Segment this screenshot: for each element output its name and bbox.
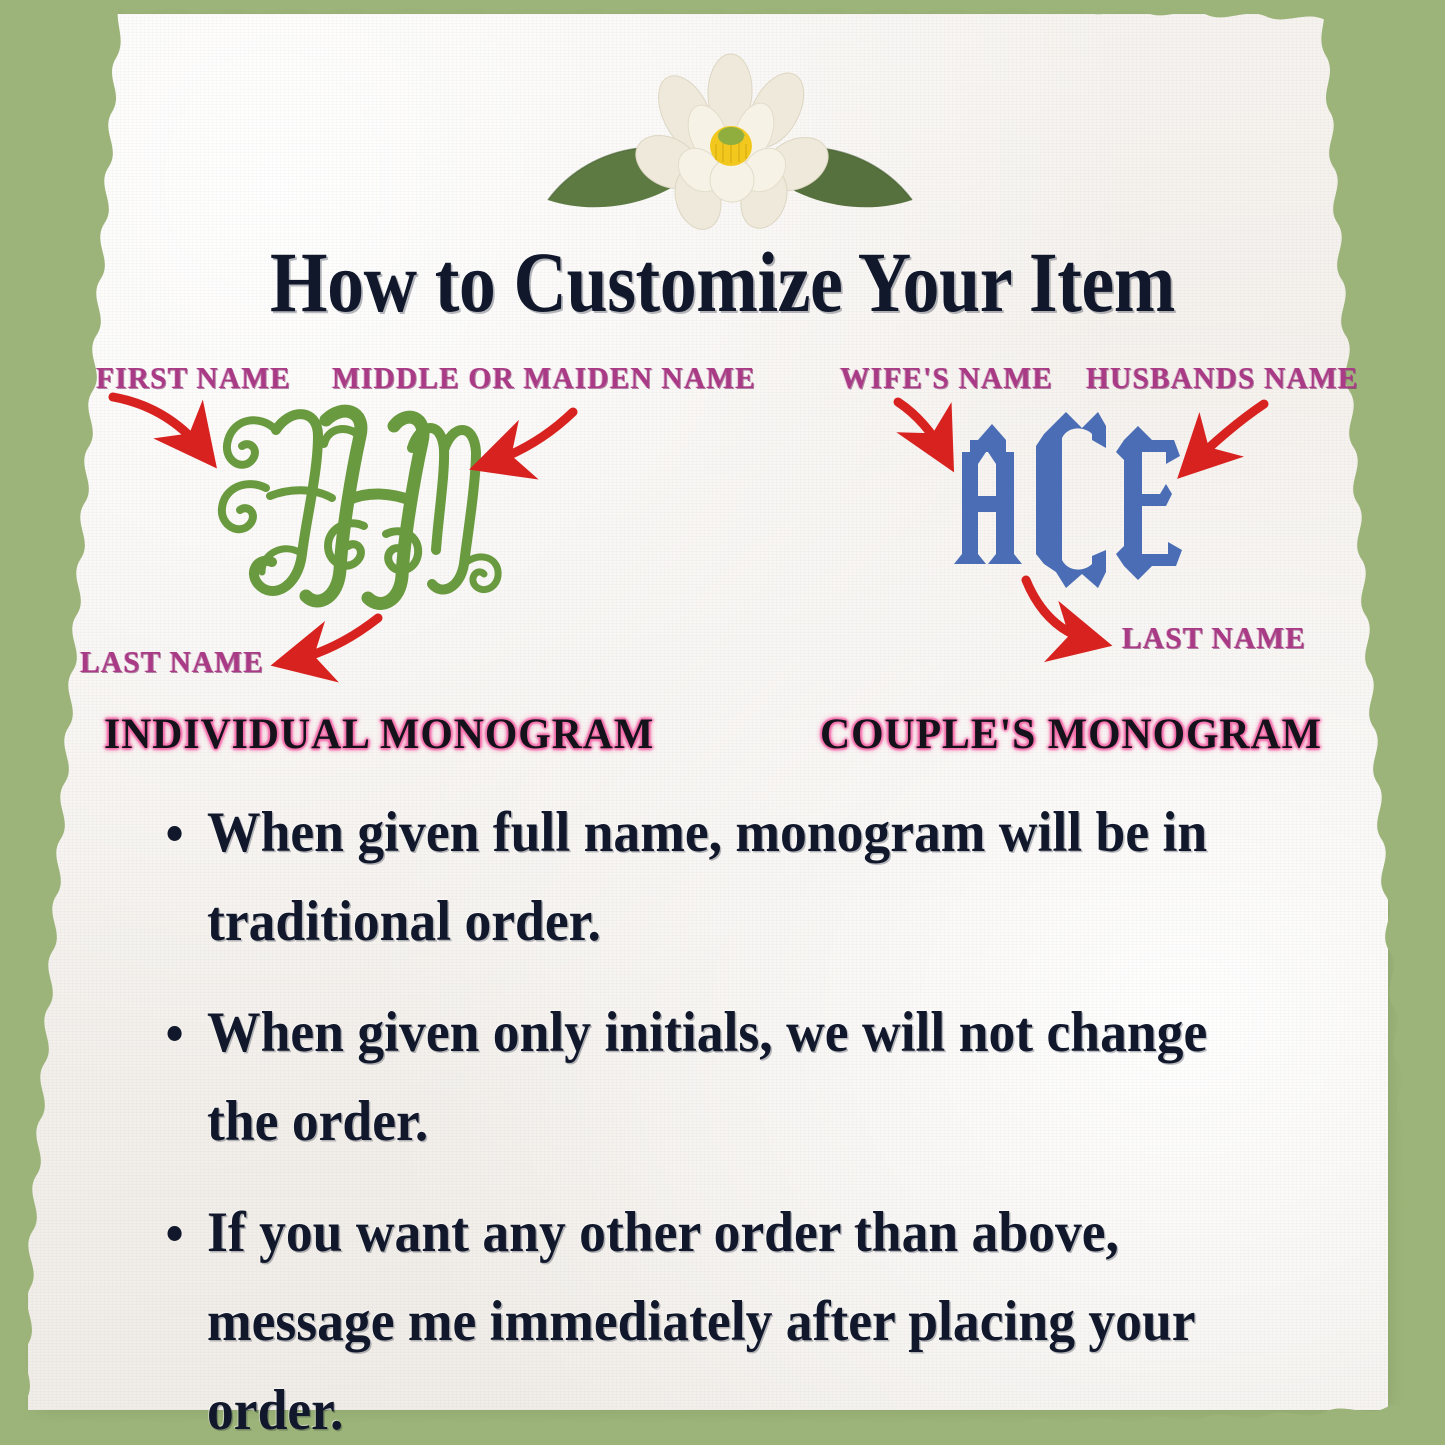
arrow-first-name [113, 397, 204, 452]
bullet-dot-icon [168, 826, 182, 841]
arrow-wife-name [898, 402, 944, 454]
list-item: When given only initials, we will not ch… [160, 988, 1250, 1166]
bullet-dot-icon [168, 1226, 182, 1241]
heading-couple-monogram: COUPLE'S MONOGRAM [820, 710, 1322, 759]
arrow-husband-name [1192, 404, 1264, 464]
list-item-text: When given only initials, we will not ch… [207, 1001, 1207, 1153]
list-item-text: If you want any other order than above, … [207, 1201, 1195, 1442]
list-item: When given full name, monogram will be i… [160, 788, 1250, 966]
list-item-text: When given full name, monogram will be i… [207, 801, 1207, 953]
bullet-dot-icon [168, 1026, 182, 1041]
arrow-last-name-left [291, 618, 378, 661]
arrow-middle-name [489, 412, 573, 463]
list-item: If you want any other order than above, … [160, 1188, 1250, 1445]
heading-individual-monogram: INDIVIDUAL MONOGRAM [104, 710, 654, 759]
arrow-last-name-right [1026, 580, 1092, 641]
instructions-list: When given full name, monogram will be i… [160, 788, 1320, 1445]
infographic-canvas: How to Customize Your Item FIRST NAME MI… [0, 0, 1445, 1445]
